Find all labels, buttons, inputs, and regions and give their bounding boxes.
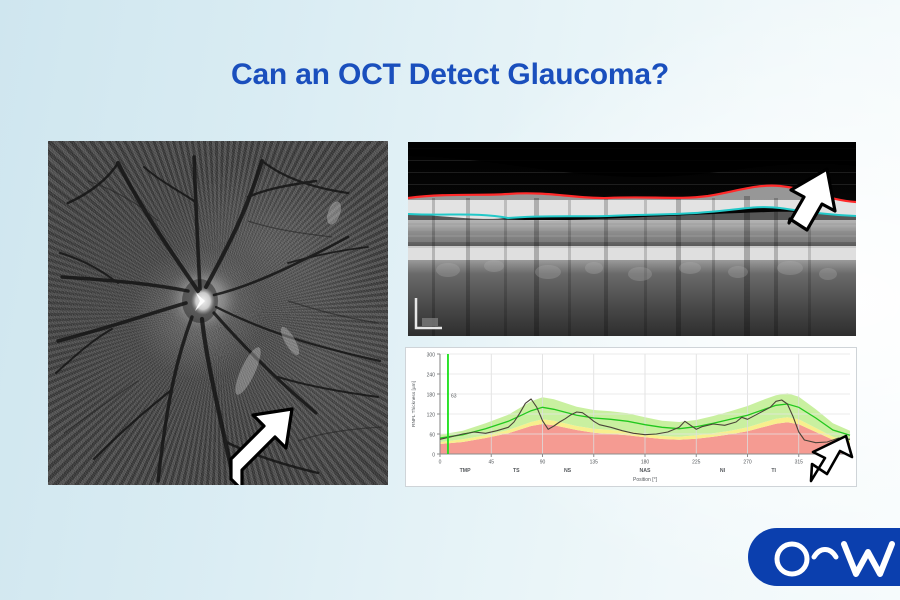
svg-text:45: 45 [488, 460, 494, 466]
svg-text:180: 180 [641, 460, 650, 466]
svg-text:90: 90 [540, 460, 546, 466]
fundus-image-panel[interactable] [48, 141, 388, 485]
svg-text:315: 315 [795, 460, 804, 466]
fundus-vessel-overlay [48, 141, 388, 485]
svg-text:NS: NS [564, 468, 572, 474]
svg-text:Position [°]: Position [°] [633, 477, 658, 483]
svg-text:225: 225 [692, 460, 701, 466]
oct-bscan-render [408, 142, 856, 336]
fundus-annotation-arrow [231, 409, 292, 485]
svg-text:TI: TI [771, 468, 776, 474]
svg-text:270: 270 [743, 460, 752, 466]
svg-text:TMP: TMP [460, 468, 471, 474]
svg-text:NAS: NAS [640, 468, 651, 474]
rnfl-thickness-chart-panel[interactable]: 06012018024030004590135180225270315TMPTS… [405, 347, 857, 487]
svg-text:60: 60 [429, 433, 435, 439]
svg-text:TS: TS [513, 468, 520, 474]
svg-text:63: 63 [451, 393, 457, 399]
oct-bscan-panel[interactable] [408, 142, 856, 336]
svg-text:240: 240 [427, 373, 436, 379]
svg-text:180: 180 [427, 393, 436, 399]
chart-annotation-arrow [806, 434, 866, 490]
svg-text:135: 135 [590, 460, 599, 466]
svg-text:0: 0 [432, 453, 435, 459]
logo-glyph-ow-icon [768, 535, 898, 579]
slide-canvas: Can an OCT Detect Glaucoma? [0, 0, 900, 600]
svg-text:NI: NI [720, 468, 726, 474]
svg-text:0: 0 [439, 460, 442, 466]
svg-text:120: 120 [427, 413, 436, 419]
svg-text:RNFL Thickness [µm]: RNFL Thickness [µm] [411, 381, 417, 427]
page-title: Can an OCT Detect Glaucoma? [0, 58, 900, 92]
svg-text:300: 300 [427, 353, 436, 359]
rnfl-tsnit-chart: 06012018024030004590135180225270315TMPTS… [406, 348, 857, 487]
brand-logo[interactable] [748, 528, 900, 586]
